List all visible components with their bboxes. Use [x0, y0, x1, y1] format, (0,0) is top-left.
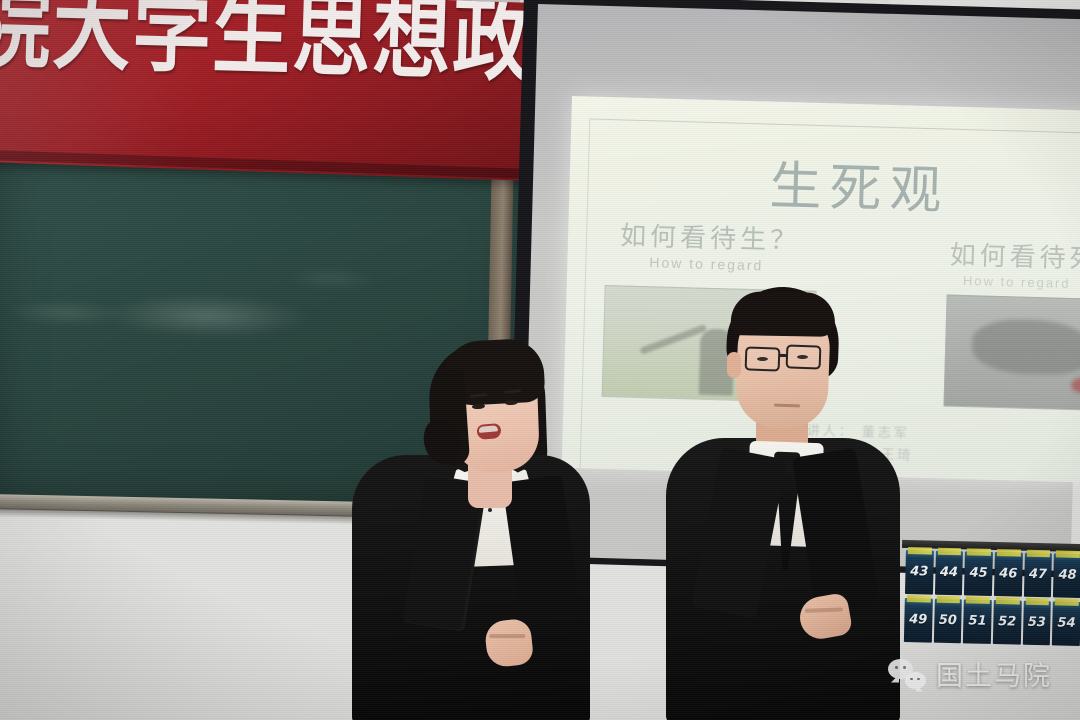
pocket-tab — [1056, 550, 1080, 558]
pocket-number: 49 — [904, 612, 932, 628]
pocket-tab — [997, 549, 1021, 557]
slide-question-right-english: How to regard — [963, 273, 1071, 291]
pocket-number: 44 — [935, 565, 963, 581]
slide-question-left: 如何看待生？ — [620, 215, 801, 257]
slide-question-left-english: How to regard — [649, 254, 763, 273]
pocket-slot: 43 — [905, 550, 934, 595]
pocket-tab — [908, 547, 932, 555]
projected-slide: 生死观 如何看待生？ How to regard 如何看待死？ How to r… — [562, 96, 1080, 482]
pocket-tab — [936, 596, 960, 604]
pocket-number: 46 — [994, 566, 1022, 582]
bubble-dot — [903, 666, 906, 669]
pocket-number: 48 — [1054, 567, 1080, 583]
organizer-row-top: 43 44 45 46 47 48 — [905, 550, 1080, 598]
organizer-row-bottom: 49 50 51 52 53 54 — [904, 598, 1080, 646]
chalk-smudge — [106, 293, 307, 340]
slide-photo-death — [943, 295, 1080, 412]
pocket-tab — [966, 596, 990, 604]
death-image-accent — [1071, 377, 1080, 394]
glasses-lens-left — [745, 346, 781, 371]
slide-title: 生死观 — [769, 144, 951, 224]
pocket-tab — [996, 597, 1020, 605]
pocket-slot: 45 — [964, 551, 993, 596]
pocket-tab — [907, 595, 931, 603]
pocket-tab — [967, 548, 991, 556]
pocket-slot: 53 — [1023, 601, 1052, 646]
pocket-number: 50 — [934, 613, 962, 629]
slide-question-right: 如何看待死？ — [949, 235, 1080, 277]
wechat-bubble-small — [905, 672, 926, 689]
pocket-tab — [938, 548, 962, 556]
hair-fringe — [731, 291, 836, 337]
pocket-slot: 54 — [1052, 601, 1080, 646]
wechat-watermark: 国土马院 — [888, 654, 1052, 693]
wechat-account-name: 国土马院 — [936, 654, 1052, 693]
chalk-smudge — [6, 298, 127, 327]
wechat-icon — [888, 659, 926, 689]
bubble-dot — [917, 678, 920, 681]
pocket-number: 47 — [1024, 567, 1052, 583]
pocket-slot: 52 — [993, 600, 1022, 645]
classroom-photo: 院大学生思想政治理论 生死观 如何看待生？ How to regard 如何看待… — [0, 0, 1080, 720]
wall-pocket-organizer: 43 44 45 46 47 48 49 50 51 52 53 54 — [904, 548, 1080, 648]
pocket-slot: 50 — [934, 599, 963, 644]
pocket-slot: 48 — [1053, 553, 1080, 598]
pocket-number: 43 — [905, 564, 933, 580]
pocket-number: 52 — [993, 614, 1021, 630]
pocket-number: 53 — [1023, 615, 1051, 631]
pocket-tab — [1025, 598, 1049, 606]
glasses-bridge — [779, 354, 788, 357]
pocket-slot: 49 — [904, 598, 933, 643]
pocket-number: 45 — [965, 565, 993, 581]
ear — [727, 352, 741, 378]
bubble-dot — [910, 678, 913, 681]
pocket-tab — [1027, 550, 1051, 558]
pocket-number: 54 — [1053, 615, 1080, 631]
death-image-shape — [971, 318, 1080, 375]
pocket-tab — [1055, 598, 1079, 606]
chalk-smudge — [287, 267, 377, 291]
bubble-dot — [895, 666, 898, 669]
pocket-slot: 46 — [994, 552, 1023, 597]
pocket-number: 51 — [964, 613, 992, 629]
pocket-slot: 47 — [1024, 553, 1053, 598]
glasses-lens-right — [786, 344, 822, 369]
blouse-button — [488, 508, 492, 512]
pocket-slot: 51 — [963, 599, 992, 644]
pocket-slot: 44 — [935, 551, 964, 596]
